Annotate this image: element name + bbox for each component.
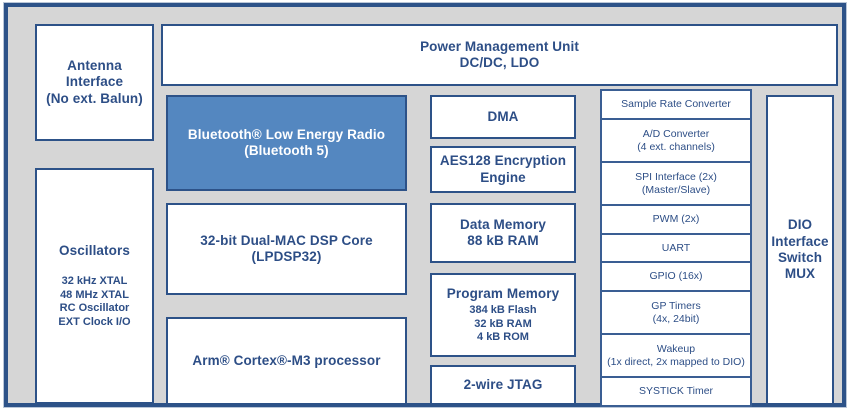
peripheral-label: A/D Converter [643, 128, 710, 141]
block-data-memory: Data Memory 88 kB RAM [430, 203, 576, 263]
peripheral-label: Wakeup [657, 343, 695, 356]
peripheral-row: GP Timers(4x, 24bit) [600, 290, 752, 335]
block-cortex-m3-processor: Arm® Cortex®-M3 processor [166, 317, 407, 405]
peripheral-label: Sample Rate Converter [621, 98, 731, 111]
peripheral-label: SYSTICK Timer [639, 385, 713, 398]
block-dma: DMA [430, 95, 576, 139]
data-memory-line1: Data Memory [460, 217, 546, 233]
peripheral-row: A/D Converter(4 ext. channels) [600, 118, 752, 163]
oscillators-item-32khz: 32 kHz XTAL [62, 275, 128, 288]
block-dsp-core: 32-bit Dual-MAC DSP Core (LPDSP32) [166, 203, 407, 295]
peripheral-row: Sample Rate Converter [600, 89, 752, 120]
dio-mux-line1: DIO [788, 217, 812, 233]
peripheral-row: GPIO (16x) [600, 261, 752, 292]
block-aes128-encryption-engine: AES128 Encryption Engine [430, 146, 576, 193]
dio-mux-line2: Interface [771, 234, 828, 250]
peripheral-stack: Sample Rate ConverterA/D Converter(4 ext… [600, 89, 752, 405]
peripheral-label: SPI Interface (2x) [635, 171, 717, 184]
peripheral-sublabel: (1x direct, 2x mapped to DIO) [607, 356, 745, 369]
program-memory-item-flash: 384 kB Flash [469, 304, 536, 317]
peripheral-row: Wakeup(1x direct, 2x mapped to DIO) [600, 333, 752, 378]
antenna-interface-line1: Antenna [67, 58, 122, 74]
peripheral-sublabel: (4x, 24bit) [653, 313, 700, 326]
peripheral-row: SYSTICK Timer [600, 376, 752, 407]
ble-radio-line2: (Bluetooth 5) [244, 143, 329, 159]
aes128-line1: AES128 Encryption [440, 153, 566, 169]
cortex-m3-line1: Arm® Cortex®-M3 processor [192, 353, 380, 369]
dsp-core-line2: (LPDSP32) [252, 249, 322, 265]
block-antenna-interface: Antenna Interface (No ext. Balun) [35, 24, 154, 141]
pmu-line1: Power Management Unit [420, 39, 579, 55]
block-oscillators: Oscillators 32 kHz XTAL 48 MHz XTAL RC O… [35, 168, 154, 404]
peripheral-label: GP Timers [651, 300, 700, 313]
peripheral-label: GPIO (16x) [649, 270, 702, 283]
peripheral-label: UART [662, 242, 690, 255]
block-dio-interface-switch-mux: DIO Interface Switch MUX [766, 95, 834, 405]
block-2-wire-jtag: 2-wire JTAG [430, 365, 576, 405]
ble-radio-line1: Bluetooth® Low Energy Radio [188, 127, 385, 143]
data-memory-line2: 88 kB RAM [467, 233, 538, 249]
dma-line1: DMA [487, 109, 518, 125]
block-program-memory: Program Memory 384 kB Flash 32 kB RAM 4 … [430, 273, 576, 357]
block-bluetooth-low-energy-radio: Bluetooth® Low Energy Radio (Bluetooth 5… [166, 95, 407, 191]
program-memory-item-rom: 4 kB ROM [477, 331, 529, 344]
peripheral-row: UART [600, 233, 752, 264]
peripheral-label: PWM (2x) [653, 213, 700, 226]
oscillators-item-rc: RC Oscillator [60, 302, 130, 315]
oscillators-item-ext-clock: EXT Clock I/O [58, 316, 130, 329]
antenna-interface-line2: Interface [66, 74, 123, 90]
dsp-core-line1: 32-bit Dual-MAC DSP Core [200, 233, 372, 249]
dio-mux-line4: MUX [785, 266, 815, 282]
peripheral-sublabel: (4 ext. channels) [637, 141, 715, 154]
peripheral-row: SPI Interface (2x)(Master/Slave) [600, 161, 752, 206]
oscillators-title: Oscillators [59, 243, 130, 259]
soc-block-diagram-frame: Antenna Interface (No ext. Balun) Oscill… [4, 3, 846, 407]
pmu-line2: DC/DC, LDO [460, 55, 540, 71]
aes128-line2: Engine [480, 170, 526, 186]
jtag-line1: 2-wire JTAG [464, 377, 543, 393]
program-memory-item-ram: 32 kB RAM [474, 318, 531, 331]
antenna-interface-line3: (No ext. Balun) [46, 91, 143, 107]
program-memory-title: Program Memory [447, 286, 559, 302]
dio-mux-line3: Switch [778, 250, 822, 266]
oscillators-item-48mhz: 48 MHz XTAL [60, 289, 129, 302]
peripheral-row: PWM (2x) [600, 204, 752, 235]
block-power-management-unit: Power Management Unit DC/DC, LDO [161, 24, 838, 86]
peripheral-sublabel: (Master/Slave) [642, 184, 710, 197]
